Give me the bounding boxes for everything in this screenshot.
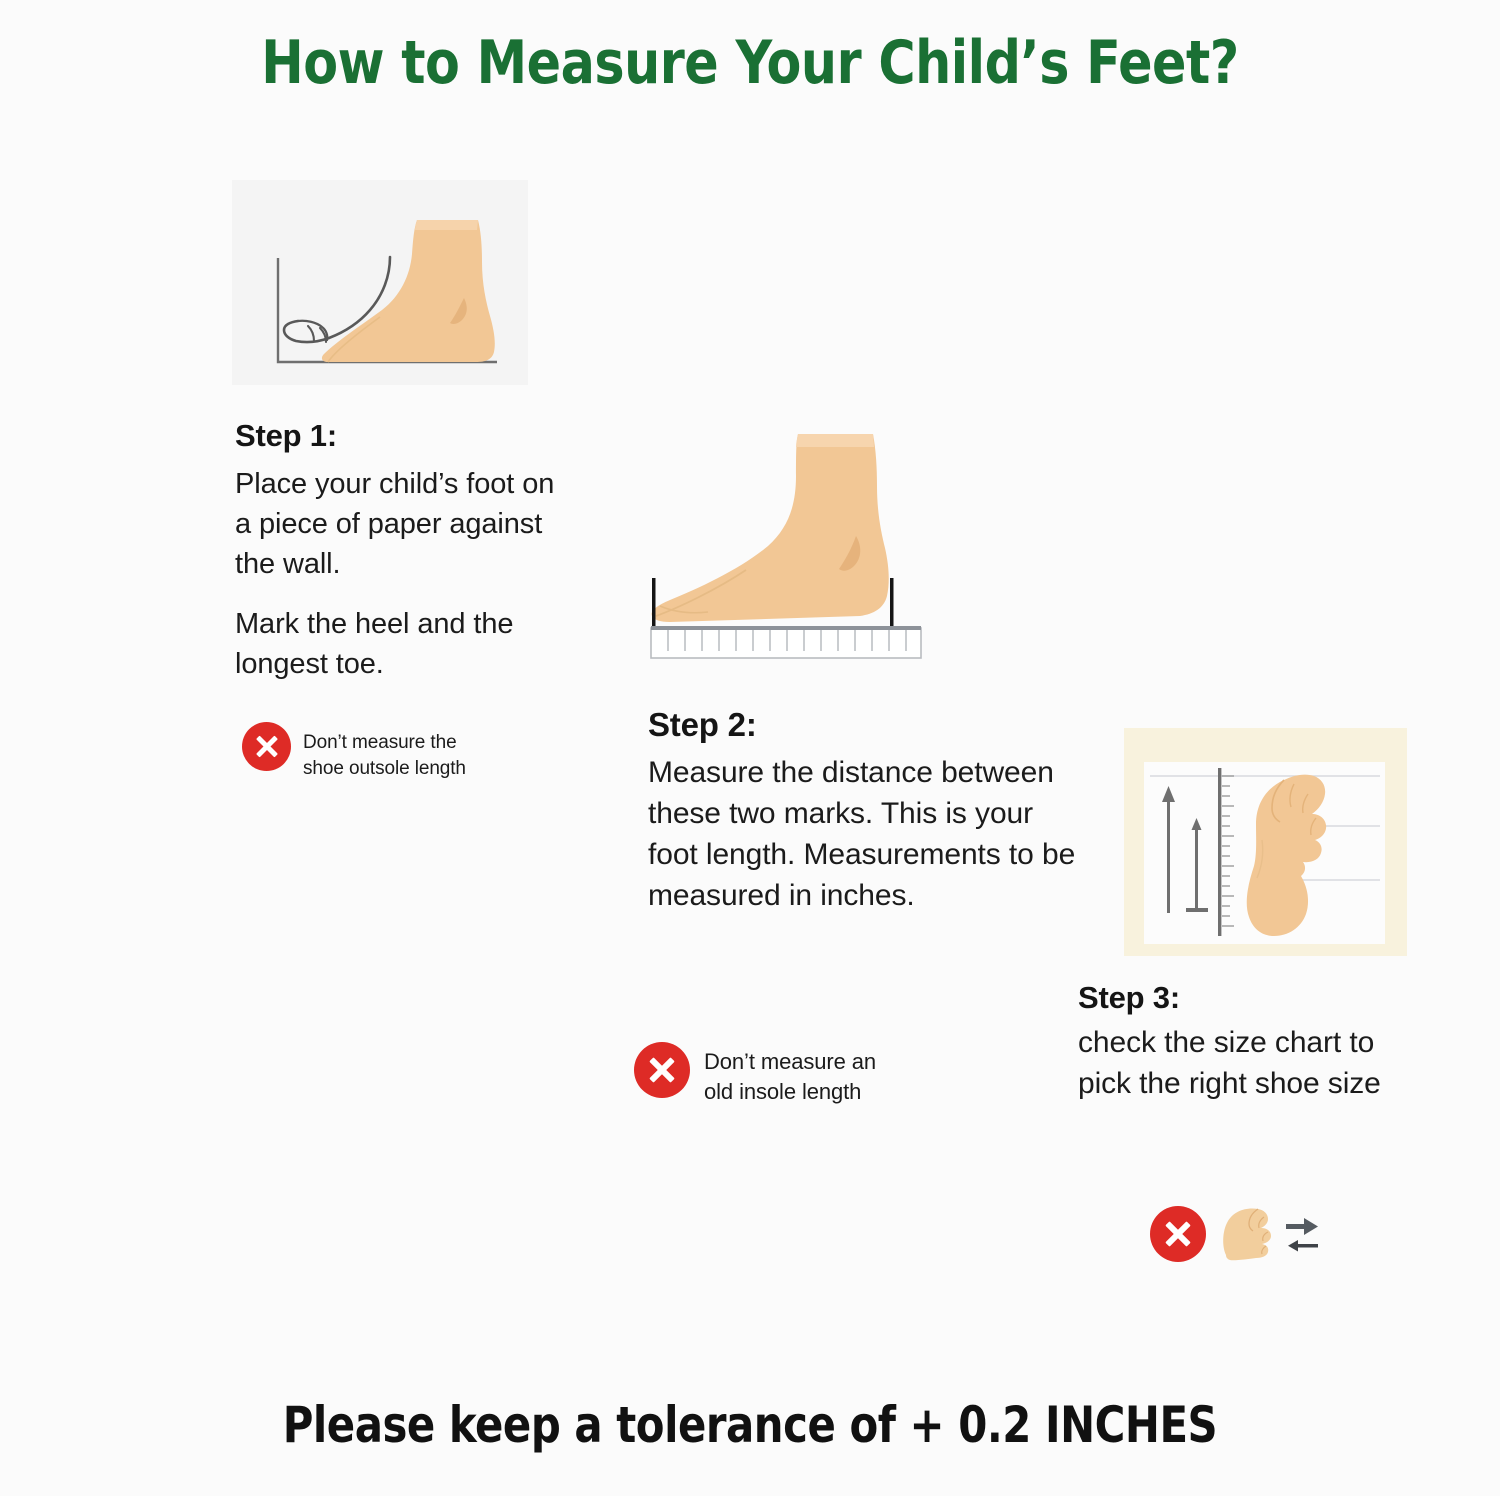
foot-against-wall-illustration [232,180,528,385]
step3-figure [1124,728,1407,956]
arrow-up-short-icon [1186,818,1208,912]
step1-paragraph-1: Place your child’s foot on a piece of pa… [235,464,565,584]
step2-figure [630,420,940,665]
step3-figure-inner [1144,762,1385,944]
step3-text-block: Step 3: check the size chart to pick the… [1078,976,1428,1104]
heel-mark-line [890,578,894,628]
foot-on-ruler-illustration [630,420,940,665]
arrow-left-icon [1288,1240,1318,1252]
red-x-circle-icon [634,1042,690,1098]
step3-paragraph-1: check the size chart to pick the right s… [1078,1022,1428,1104]
arrow-up-long-icon [1162,786,1175,913]
step1-text-block: Step 1: Place your child’s foot on a pie… [235,414,565,684]
step2-paragraph-1: Measure the distance between these two m… [648,752,1078,916]
step2-text-block: Step 2: Measure the distance between the… [648,702,1078,916]
foot-sole-icon [1223,1209,1271,1261]
step2-warning-label: Don’t measure an old insole length [704,1042,904,1107]
step1-paragraph-2: Mark the heel and the longest toe. [235,604,565,684]
footer-note: Please keep a tolerance of + 0.2 INCHES [53,1396,1448,1454]
page-title: How to Measure Your Child’s Feet? [45,28,1455,98]
red-x-circle-icon [242,722,291,771]
step2-warning: Don’t measure an old insole length [634,1042,904,1107]
arrow-right-icon [1286,1218,1318,1235]
step3-heading: Step 3: [1078,976,1428,1020]
step1-heading: Step 1: [235,414,565,458]
step1-figure [232,180,528,385]
step1-warning: Don’t measure the shoe outsole length [242,722,482,782]
step1-warning-label: Don’t measure the shoe outsole length [303,722,482,782]
foot-sole-with-scale-illustration [1144,762,1385,944]
step3-warning [1150,1203,1350,1265]
step3-warning-icon-group [1220,1203,1340,1265]
toe-mark-line [652,578,656,628]
step2-heading: Step 2: [648,702,1078,748]
red-x-circle-icon [1150,1206,1206,1262]
